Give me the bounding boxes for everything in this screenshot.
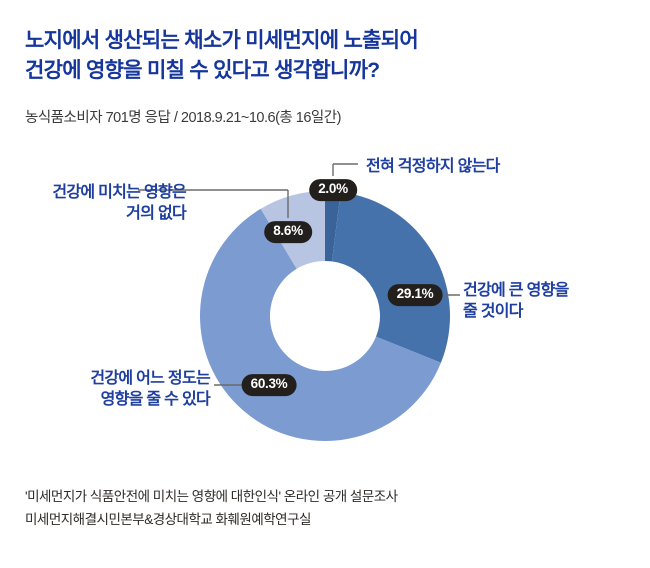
percentage-badge: 8.6%	[264, 221, 312, 243]
donut-chart: 2.0%29.1%60.3%8.6% 전혀 걱정하지 않는다건강에 큰 영향을 …	[0, 140, 650, 460]
slice-callout-label: 전혀 걱정하지 않는다	[366, 156, 500, 177]
slice-callout-label: 건강에 어느 정도는 영향을 줄 수 있다	[90, 368, 210, 410]
source-footnote: '미세먼지가 식품안전에 미치는 영향에 대한인식' 온라인 공개 설문조사 미…	[25, 485, 398, 531]
donut-slice[interactable]	[332, 192, 450, 363]
page-title: 노지에서 생산되는 채소가 미세먼지에 노출되어 건강에 영향을 미칠 수 있다…	[25, 26, 625, 86]
percentage-badge: 2.0%	[309, 179, 357, 201]
infographic-root: 노지에서 생산되는 채소가 미세먼지에 노출되어 건강에 영향을 미칠 수 있다…	[0, 0, 650, 568]
slice-callout-label: 건강에 큰 영향을 줄 것이다	[463, 280, 569, 322]
slice-callout-label: 건강에 미치는 영향은 거의 없다	[52, 182, 186, 224]
survey-subtitle: 농식품소비자 701명 응답 / 2018.9.21~10.6(총 16일간)	[25, 106, 341, 127]
donut-slices	[200, 191, 450, 441]
percentage-badge: 29.1%	[388, 284, 443, 306]
percentage-badge: 60.3%	[242, 374, 297, 396]
